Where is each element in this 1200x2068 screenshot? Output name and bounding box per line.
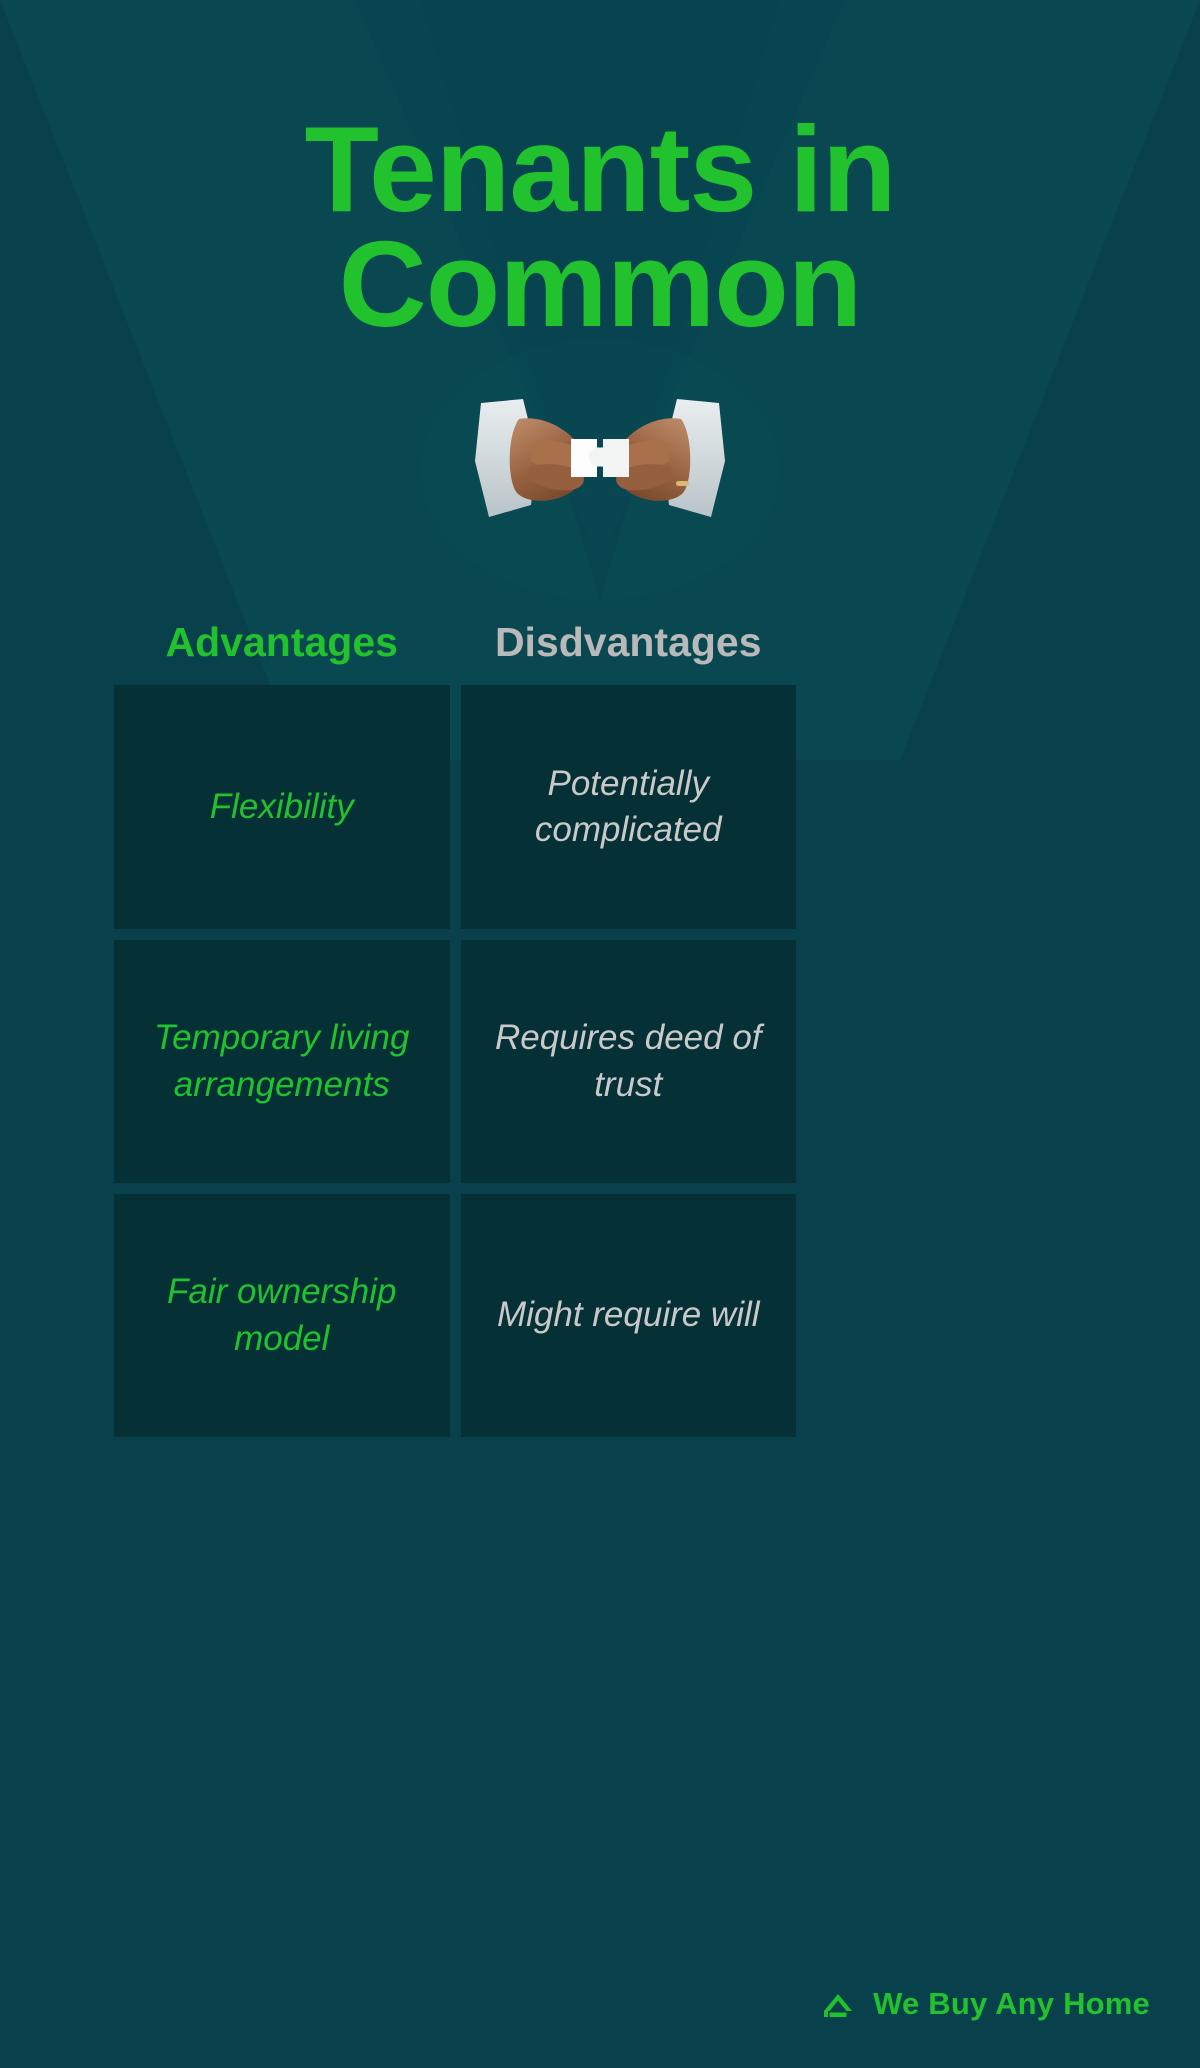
column-header-advantages: Advantages [114, 620, 450, 679]
hands-puzzle-image [471, 385, 729, 537]
advantage-cell-3: Fair ownership model [114, 1194, 450, 1437]
disadvantage-cell-3: Might require will [461, 1194, 797, 1437]
table-row: Flexibility Potentially complicated [114, 685, 796, 929]
advantage-cell-1: Flexibility [114, 685, 450, 929]
infographic-poster: Tenants in Common [0, 0, 1200, 2068]
comparison-table: Advantages Disdvantages Flexibility Pote… [114, 620, 796, 1448]
page-title: Tenants in Common [110, 112, 1090, 341]
disadvantage-cell-1: Potentially complicated [461, 685, 797, 929]
table-row: Fair ownership model Might require will [114, 1194, 796, 1437]
table-row: Temporary living arrangements Requires d… [114, 940, 796, 1183]
house-roof-icon [821, 1989, 859, 2019]
footer-brand: We Buy Any Home [821, 1986, 1150, 2022]
table-header-row: Advantages Disdvantages [114, 620, 796, 679]
footer-brand-text: We Buy Any Home [873, 1986, 1150, 2022]
advantage-cell-2: Temporary living arrangements [114, 940, 450, 1183]
disadvantage-cell-2: Requires deed of trust [461, 940, 797, 1183]
page-title-wrapper: Tenants in Common [0, 112, 1200, 341]
column-header-disadvantages: Disdvantages [461, 620, 797, 679]
